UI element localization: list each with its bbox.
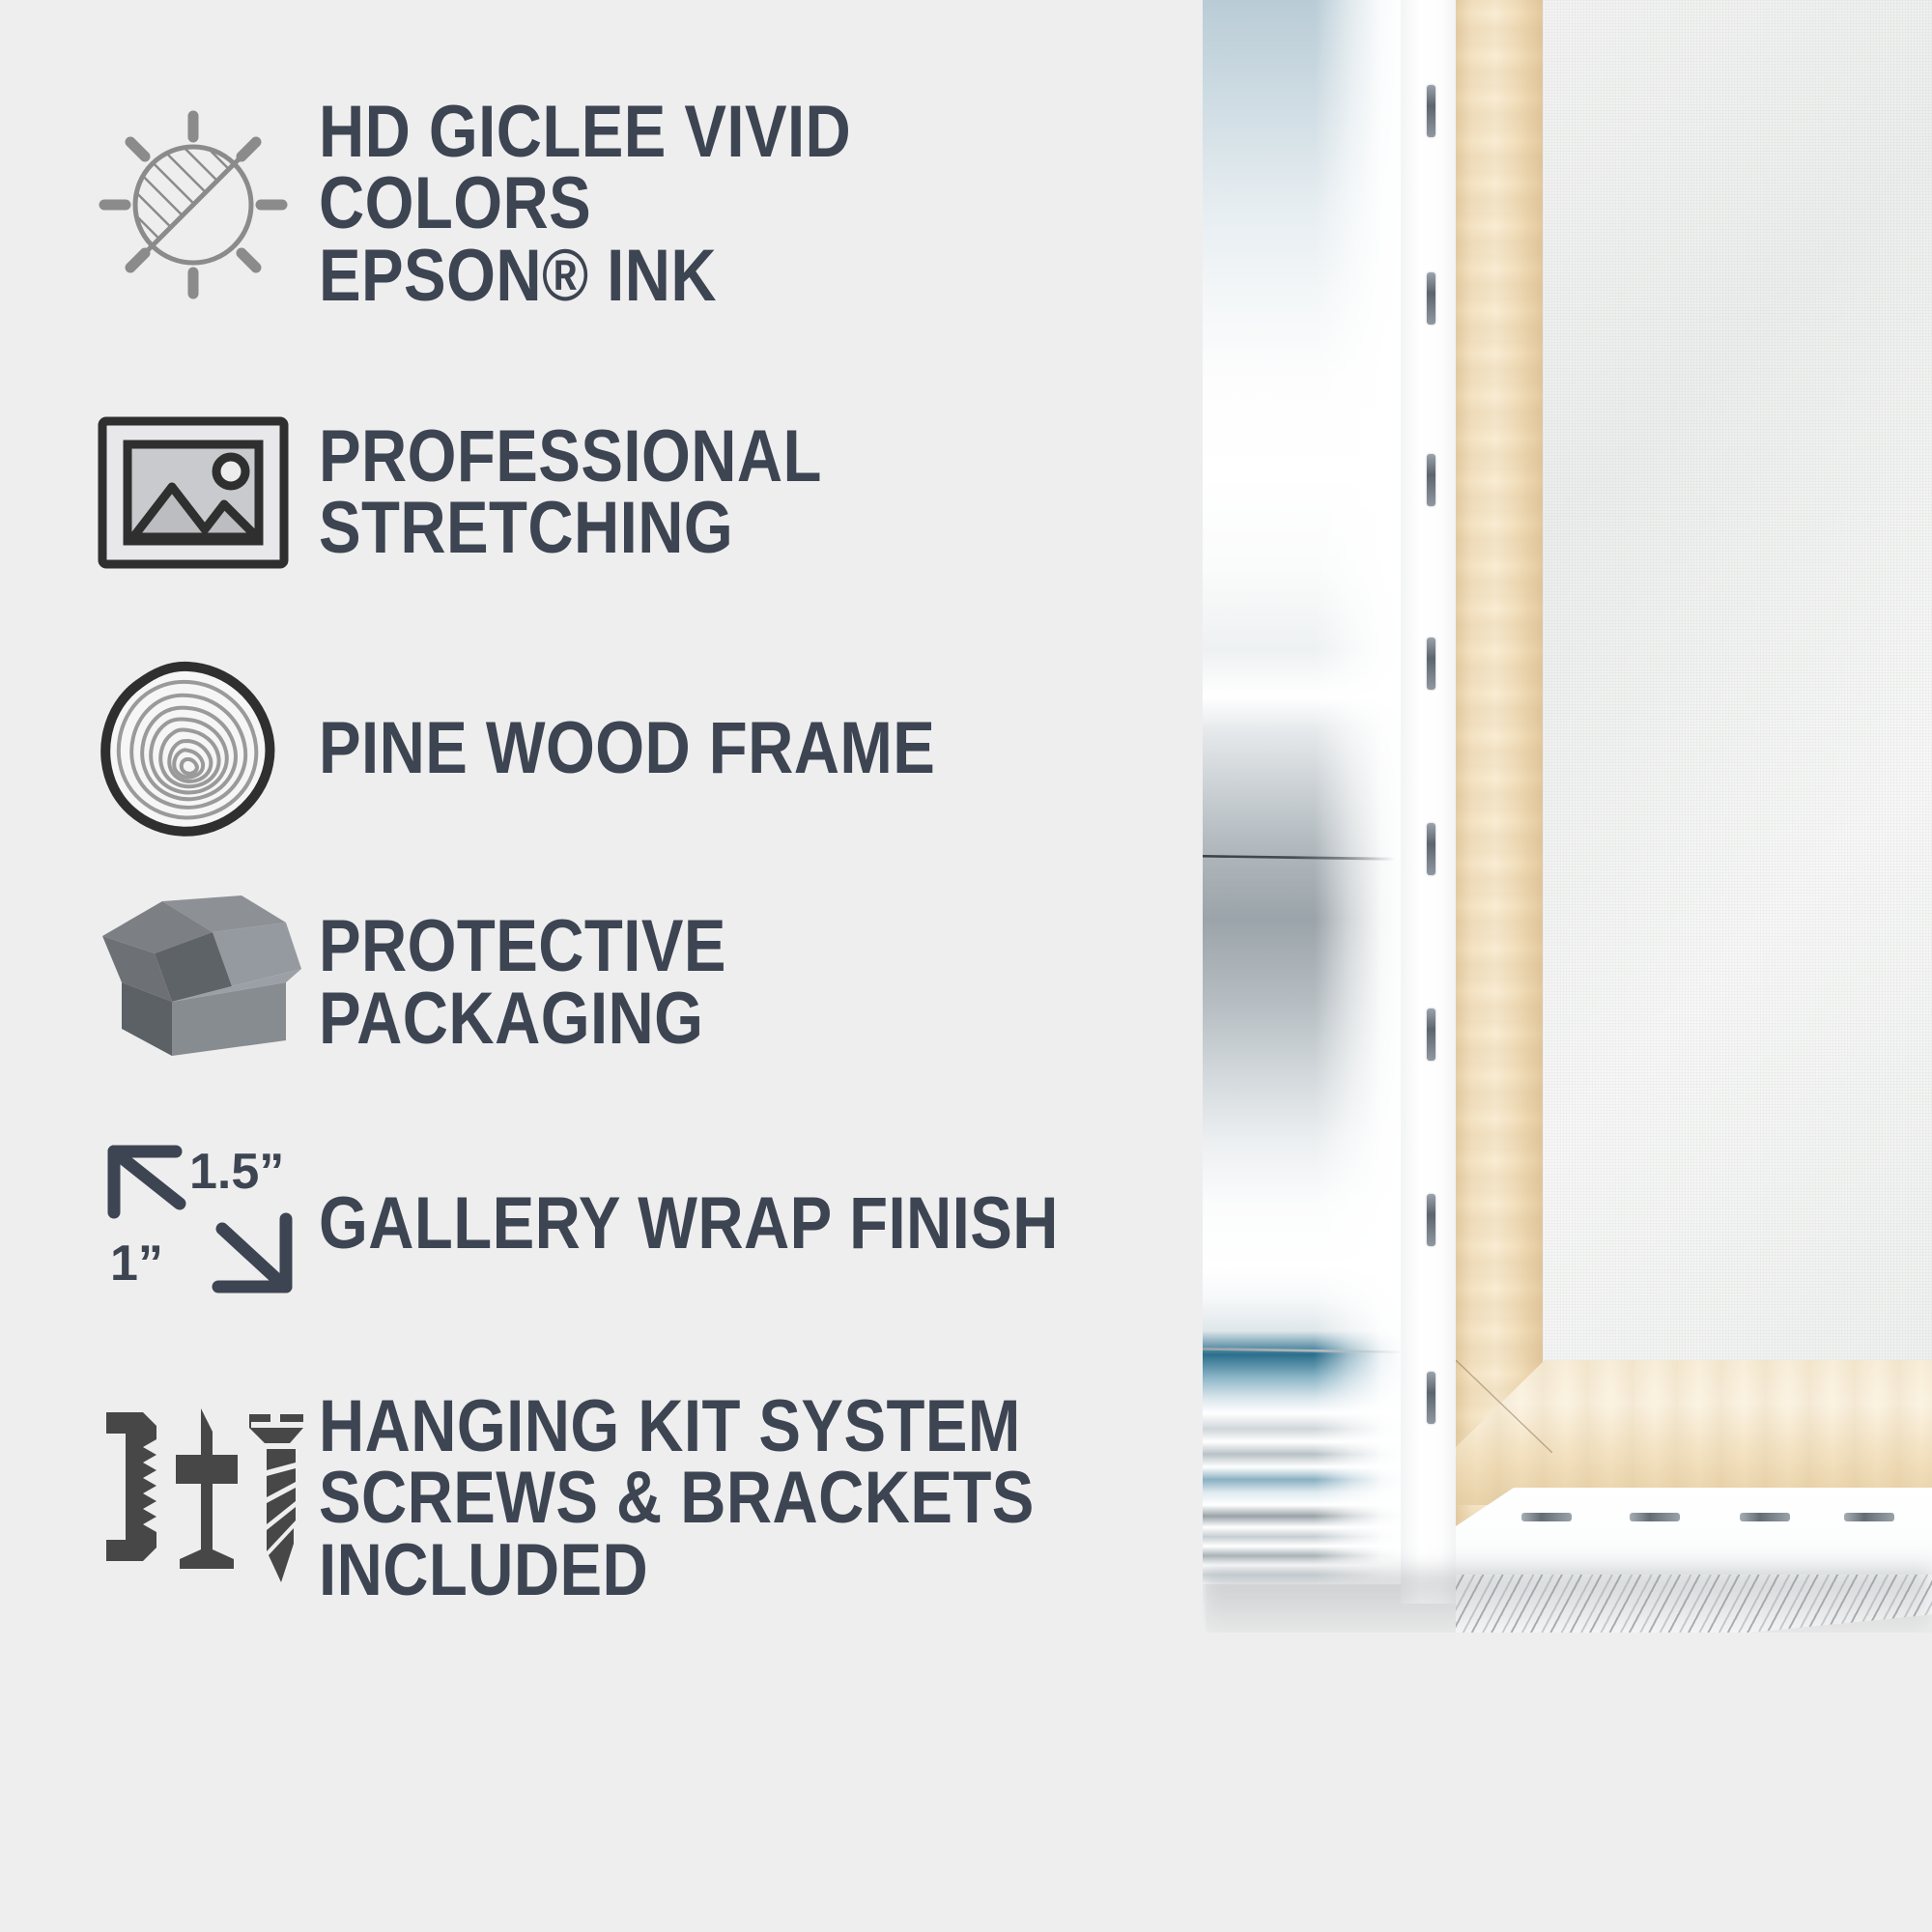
staple [1427,1009,1435,1061]
framed-picture-icon [97,415,319,570]
photo-bottom-background [1203,1633,1932,1932]
feature-label-professional-stretching: PROFESSIONAL STRETCHING [319,421,1099,565]
gallery-wrapped-printed-edge [1203,0,1406,1584]
staple [1427,272,1435,325]
raw-canvas-back-surface [1543,0,1932,1383]
staple [1521,1513,1572,1521]
hanging-hardware-icon [97,1403,319,1596]
feature-row-gallery-wrap-finish: 1.5” 1” GALLERY WRAP FINISH [97,1140,1179,1309]
tree-rings-wood-icon [97,657,319,840]
feature-label-hd-giclee: HD GICLEE VIVID COLORS EPSON® INK [319,97,1099,312]
feature-row-hd-giclee: HD GICLEE VIVID COLORS EPSON® INK [97,97,1227,312]
staple [1427,1194,1435,1246]
feature-list: HD GICLEE VIVID COLORS EPSON® INK PROFES… [0,0,1227,1932]
feature-row-hanging-kit: HANGING KIT SYSTEM SCREWS & BRACKETS INC… [97,1391,1227,1606]
feature-label-pine-wood-frame: PINE WOOD FRAME [319,713,935,784]
sun-uv-fade-resistant-icon [97,108,319,301]
depth-arrows-icon: 1.5” 1” [97,1140,319,1309]
infographic-page: HD GICLEE VIVID COLORS EPSON® INK PROFES… [0,0,1932,1932]
staple [1630,1513,1680,1521]
feature-row-protective-packaging: PROTECTIVE PACKAGING [97,894,1227,1072]
open-cardboard-box-icon [97,894,319,1072]
depth-top-label: 1.5” [189,1144,284,1200]
staple [1740,1513,1790,1521]
staple [1427,823,1435,875]
pine-stretcher-bar-vertical [1456,0,1547,1531]
feature-label-hanging-kit: HANGING KIT SYSTEM SCREWS & BRACKETS INC… [319,1391,1099,1606]
staple [1427,454,1435,506]
canvas-edge-lip [1401,0,1459,1604]
mitre-joint-line [1456,1360,1552,1453]
staple [1844,1513,1894,1521]
feature-row-professional-stretching: PROFESSIONAL STRETCHING [97,415,1227,570]
staple [1427,85,1435,137]
feature-label-gallery-wrap-finish: GALLERY WRAP FINISH [319,1188,1059,1260]
depth-bottom-label: 1” [110,1236,163,1292]
product-photo-canvas-back [1203,0,1932,1932]
feature-row-pine-wood-frame: PINE WOOD FRAME [97,657,1036,840]
staple [1427,1372,1435,1424]
feature-label-protective-packaging: PROTECTIVE PACKAGING [319,911,1099,1055]
staple [1427,638,1435,690]
